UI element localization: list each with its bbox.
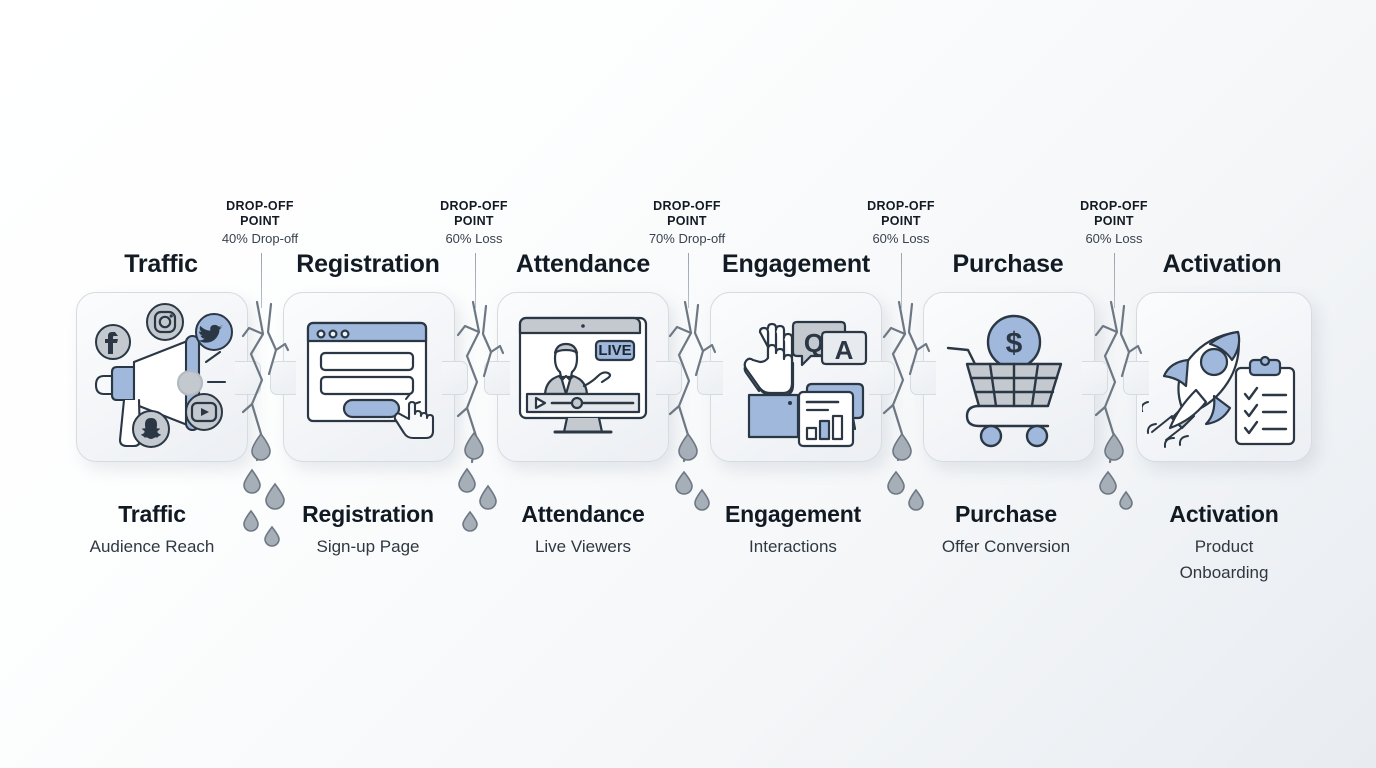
- stage-card-traffic[interactable]: [76, 292, 248, 462]
- stage-label-title: Registration: [253, 500, 483, 528]
- stage-heading-attendance: Attendance: [483, 250, 683, 279]
- dropoff-leader-line-4: [901, 253, 902, 308]
- dropoff-value: 60% Loss: [399, 230, 549, 247]
- stage-label-subtitle: Live Viewers: [468, 534, 698, 560]
- stage-label-subtitle: Offer Conversion: [891, 534, 1121, 560]
- dropoff-title: DROP-OFF POINT: [826, 199, 976, 229]
- dropoff-leader-line-5: [1114, 253, 1115, 308]
- rocket-checklist-icon: [1137, 293, 1311, 461]
- stage-label-title: Activation: [1109, 500, 1339, 528]
- dropoff-title: DROP-OFF POINT: [185, 199, 335, 229]
- stage-label-activation: Activation Product Onboarding: [1109, 500, 1339, 586]
- dropoff-annotation-3: DROP-OFF POINT 70% Drop-off: [612, 199, 762, 247]
- dropoff-annotation-2: DROP-OFF POINT 60% Loss: [399, 199, 549, 247]
- dropoff-title: DROP-OFF POINT: [1039, 199, 1189, 229]
- infographic-canvas: DROP-OFF POINT 40% Drop-off DROP-OFF POI…: [0, 0, 1376, 768]
- signup-form-cursor-icon: [284, 293, 454, 461]
- stage-heading-purchase: Purchase: [908, 250, 1108, 279]
- stage-label-attendance: Attendance Live Viewers: [468, 500, 698, 560]
- qa-letter-q: Q: [804, 328, 824, 358]
- stage-label-traffic: Traffic Audience Reach: [37, 500, 267, 560]
- shopping-cart-dollar-icon: $: [924, 293, 1094, 461]
- megaphone-social-icon: [77, 293, 247, 461]
- dropoff-title: DROP-OFF POINT: [612, 199, 762, 229]
- dropoff-leader-line-1: [261, 253, 262, 308]
- stage-card-engagement[interactable]: Q A: [710, 292, 882, 462]
- stage-label-subtitle: Product Onboarding: [1139, 534, 1309, 586]
- stage-card-purchase[interactable]: $: [923, 292, 1095, 462]
- stage-heading-traffic: Traffic: [61, 250, 261, 279]
- stage-label-purchase: Purchase Offer Conversion: [891, 500, 1121, 560]
- stage-label-title: Engagement: [678, 500, 908, 528]
- dropoff-value: 70% Drop-off: [612, 230, 762, 247]
- dropoff-leader-line-2: [475, 253, 476, 308]
- stage-label-title: Attendance: [468, 500, 698, 528]
- dropoff-value: 60% Loss: [1039, 230, 1189, 247]
- stage-card-registration[interactable]: [283, 292, 455, 462]
- stage-heading-activation: Activation: [1122, 250, 1322, 279]
- live-badge-text: LIVE: [598, 342, 631, 359]
- stage-label-title: Purchase: [891, 500, 1121, 528]
- stage-label-subtitle: Interactions: [678, 534, 908, 560]
- dropoff-leader-line-3: [688, 253, 689, 308]
- stage-card-attendance[interactable]: LIVE: [497, 292, 669, 462]
- dropoff-annotation-1: DROP-OFF POINT 40% Drop-off: [185, 199, 335, 247]
- stage-label-engagement: Engagement Interactions: [678, 500, 908, 560]
- stage-label-subtitle: Audience Reach: [37, 534, 267, 560]
- stage-label-registration: Registration Sign-up Page: [253, 500, 483, 560]
- stage-label-subtitle: Sign-up Page: [253, 534, 483, 560]
- dropoff-annotation-4: DROP-OFF POINT 60% Loss: [826, 199, 976, 247]
- dropoff-value: 40% Drop-off: [185, 230, 335, 247]
- stage-label-title: Traffic: [37, 500, 267, 528]
- dropoff-title: DROP-OFF POINT: [399, 199, 549, 229]
- stage-heading-engagement: Engagement: [696, 250, 896, 279]
- qa-letter-a: A: [835, 335, 854, 365]
- stage-heading-registration: Registration: [268, 250, 468, 279]
- dropoff-annotation-5: DROP-OFF POINT 60% Loss: [1039, 199, 1189, 247]
- dropoff-value: 60% Loss: [826, 230, 976, 247]
- live-webinar-monitor-icon: LIVE: [498, 293, 668, 461]
- dollar-symbol: $: [1006, 327, 1023, 360]
- stage-card-activation[interactable]: [1136, 292, 1312, 462]
- raised-hand-qa-chat-poll-icon: Q A: [711, 293, 881, 461]
